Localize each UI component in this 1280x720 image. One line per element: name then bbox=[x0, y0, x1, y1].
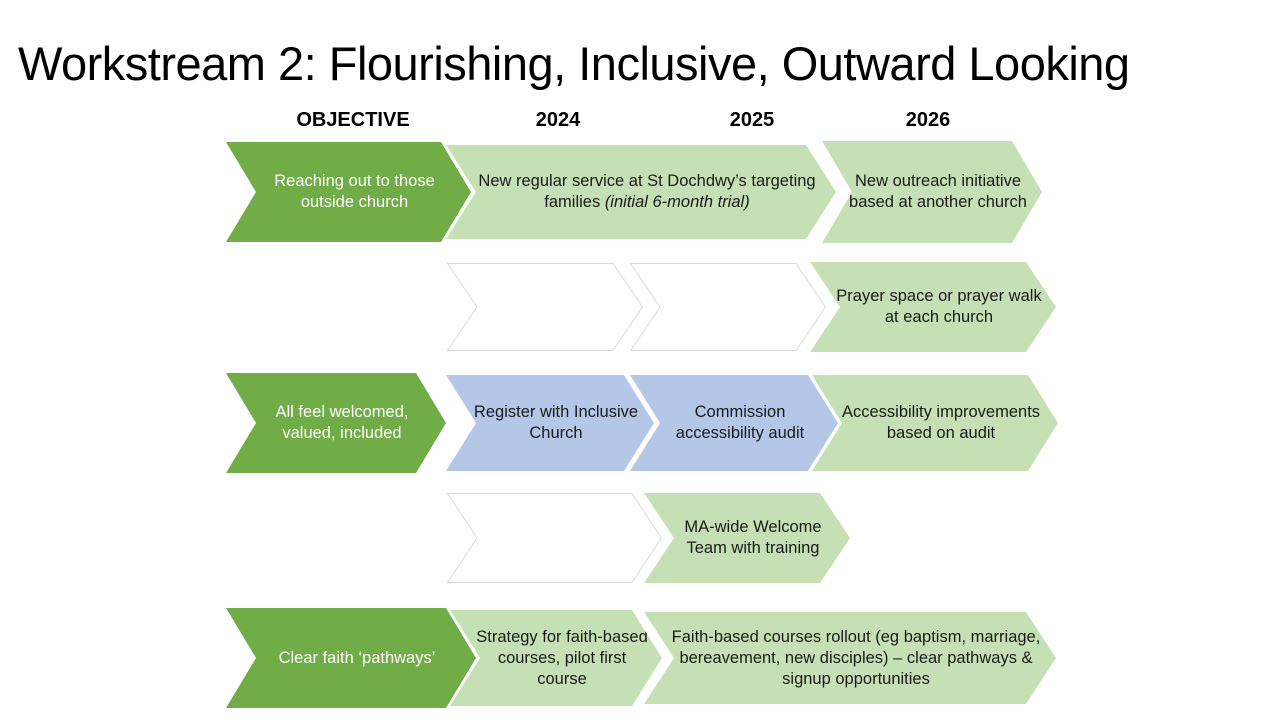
column-header-objective: OBJECTIVE bbox=[253, 108, 453, 132]
action-label: Prayer space or prayer walk at each chur… bbox=[836, 286, 1042, 328]
action-label: Accessibility improvements based on audi… bbox=[838, 402, 1044, 444]
highlight-chevron-r3-2024[interactable]: Register with Inclusive Church bbox=[446, 375, 654, 471]
action-label: Strategy for faith-based courses, pilot … bbox=[476, 627, 648, 690]
column-header-2026: 2026 bbox=[828, 108, 1028, 132]
action-text-italic: (initial 6-month trial) bbox=[605, 193, 750, 211]
objective-chevron-all-feel-welcomed[interactable]: All feel welcomed, valued, included bbox=[226, 373, 446, 473]
action-chevron-r3-2026[interactable]: Accessibility improvements based on audi… bbox=[812, 375, 1058, 471]
empty-chevron-r4-2024[interactable] bbox=[447, 493, 662, 583]
page-title: Workstream 2: Flourishing, Inclusive, Ou… bbox=[18, 36, 1280, 92]
action-label: Register with Inclusive Church bbox=[472, 402, 640, 444]
empty-chevron-r2-2025[interactable] bbox=[630, 263, 826, 351]
action-chevron-r2-2026[interactable]: Prayer space or prayer walk at each chur… bbox=[810, 262, 1056, 352]
column-header-2024: 2024 bbox=[458, 108, 658, 132]
action-label: MA-wide Welcome Team with training bbox=[670, 517, 836, 559]
empty-chevron-r2-2024[interactable] bbox=[447, 263, 643, 351]
action-chevron-r5-2024[interactable]: Strategy for faith-based courses, pilot … bbox=[450, 610, 662, 706]
highlight-chevron-r3-2025[interactable]: Commission accessibility audit bbox=[630, 375, 838, 471]
action-label: Faith-based courses rollout (eg baptism,… bbox=[670, 627, 1042, 690]
action-label: Commission accessibility audit bbox=[656, 402, 824, 444]
slide-canvas: Workstream 2: Flourishing, Inclusive, Ou… bbox=[0, 0, 1280, 720]
empty-chevron-shape bbox=[447, 493, 662, 583]
action-chevron-r1-2026[interactable]: New outreach initiative based at another… bbox=[822, 141, 1042, 243]
action-label: New outreach initiative based at another… bbox=[848, 171, 1028, 213]
empty-chevron-shape bbox=[630, 263, 826, 351]
action-chevron-r4-2025[interactable]: MA-wide Welcome Team with training bbox=[644, 493, 850, 583]
objective-chevron-clear-faith-pathways[interactable]: Clear faith ‘pathways’ bbox=[226, 608, 476, 708]
objective-label: Reaching out to those outside church bbox=[252, 171, 457, 213]
action-chevron-r5-2025-2026[interactable]: Faith-based courses rollout (eg baptism,… bbox=[644, 612, 1056, 704]
action-chevron-r1-2024-2025[interactable]: New regular service at St Dochdwy’s targ… bbox=[446, 145, 836, 239]
objective-label: All feel welcomed, valued, included bbox=[252, 402, 432, 444]
objective-label: Clear faith ‘pathways’ bbox=[252, 648, 462, 669]
column-header-2025: 2025 bbox=[652, 108, 852, 132]
action-label: New regular service at St Dochdwy’s targ… bbox=[472, 171, 822, 213]
empty-chevron-shape bbox=[447, 263, 643, 351]
objective-chevron-reaching-out[interactable]: Reaching out to those outside church bbox=[226, 142, 471, 242]
